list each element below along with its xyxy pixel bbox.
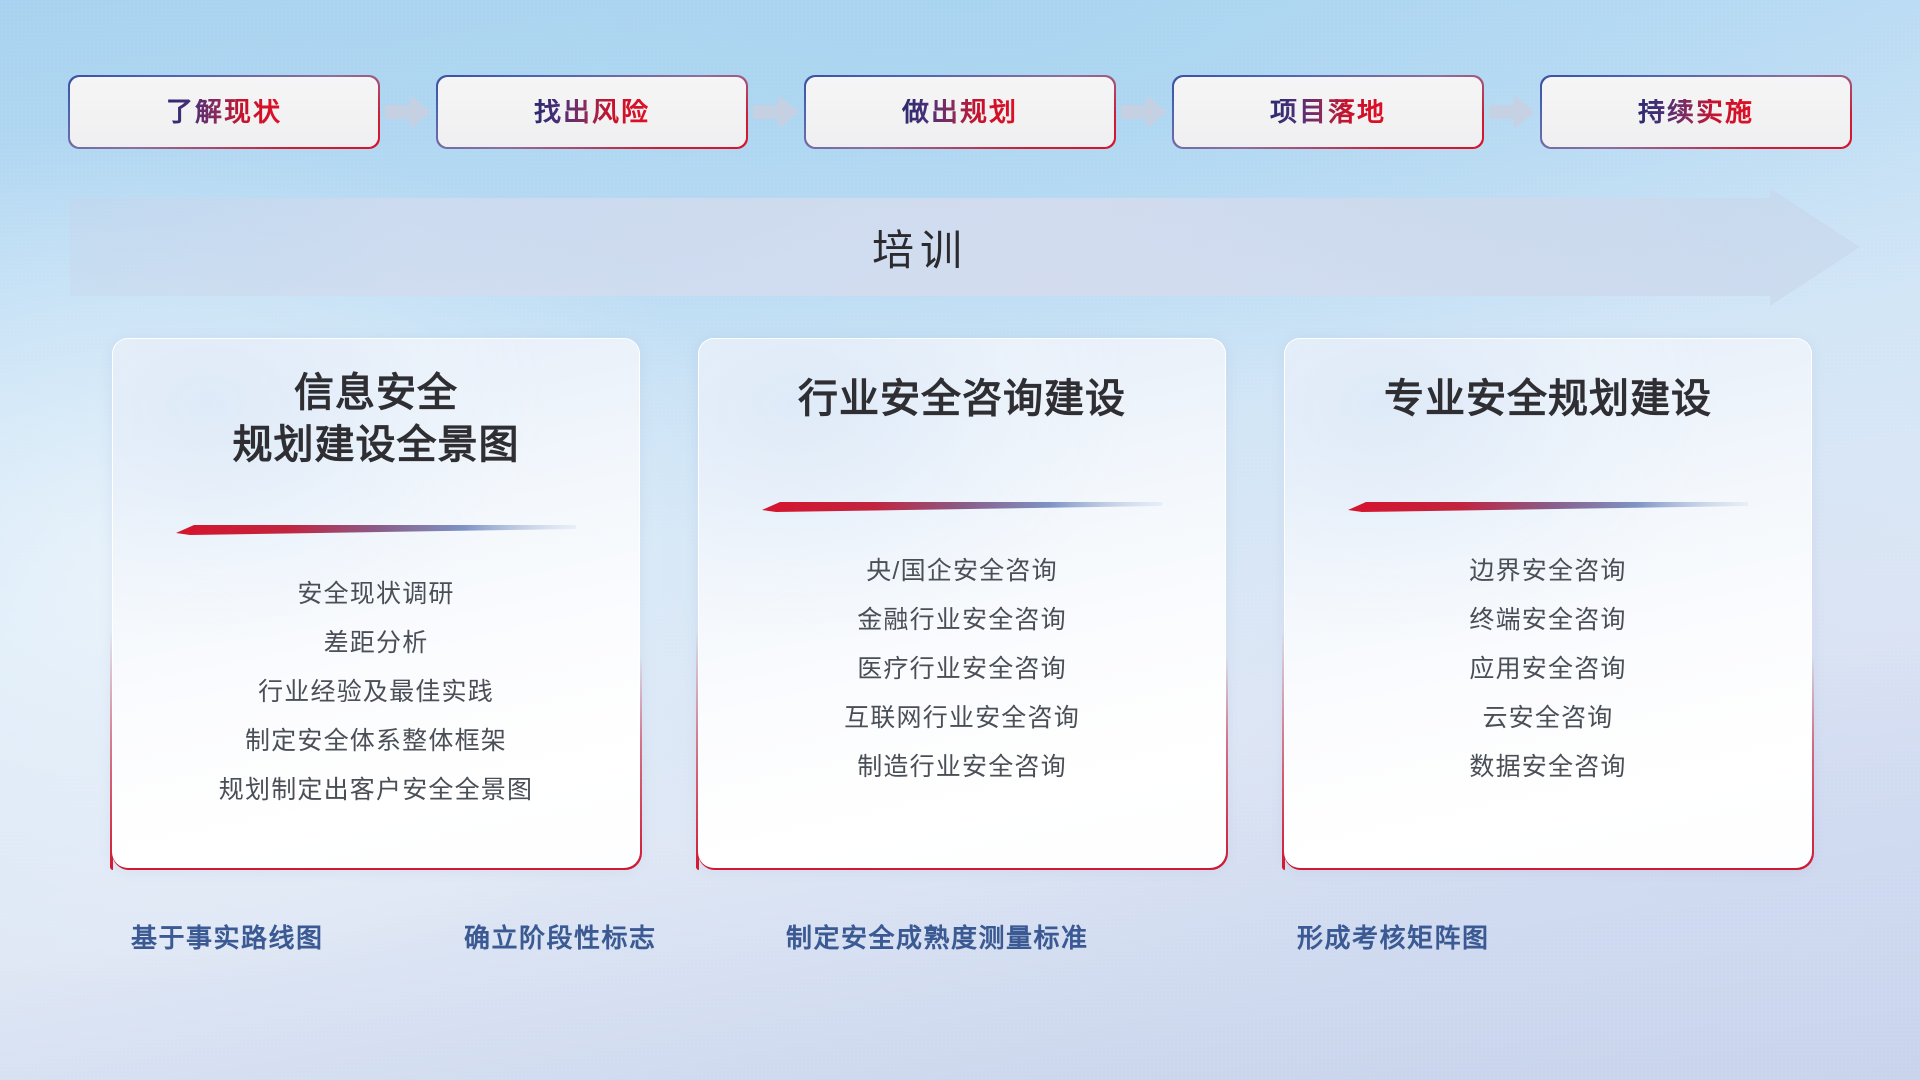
banner-label: 培训 [70, 188, 1770, 306]
step-box-5[interactable]: 持续实施 [1542, 77, 1850, 147]
card-item-list: 央/国企安全咨询 金融行业安全咨询 医疗行业安全咨询 互联网行业安全咨询 制造行… [699, 547, 1225, 792]
training-banner: 培训 [70, 188, 1860, 306]
accent-divider [762, 501, 1162, 513]
arrow-right-icon [1482, 95, 1542, 129]
list-item: 数据安全咨询 [1285, 743, 1811, 792]
process-step-row: 了解现状 找出风险 做出规划 [70, 76, 1850, 148]
list-item: 应用安全咨询 [1285, 645, 1811, 694]
step-box-1[interactable]: 了解现状 [70, 77, 378, 147]
card-item-list: 边界安全咨询 终端安全咨询 应用安全咨询 云安全咨询 数据安全咨询 [1285, 547, 1811, 792]
divider-wrap [699, 501, 1225, 513]
list-item: 互联网行业安全咨询 [699, 694, 1225, 743]
step-box-inner: 了解现状 [70, 77, 378, 147]
caption-maturity-metric: 制定安全成熟度测量标准 [786, 916, 1089, 960]
card-professional-security-planning[interactable]: 专业安全规划建设 [1284, 338, 1812, 868]
caption-roadmap: 基于事实路线图 [131, 916, 324, 960]
card-body: 信息安全 规划建设全景图 [112, 338, 640, 868]
list-item: 终端安全咨询 [1285, 596, 1811, 645]
divider-wrap [113, 524, 639, 536]
list-item: 安全现状调研 [113, 570, 639, 619]
step-label: 项目落地 [1270, 99, 1386, 126]
step-label: 了解现状 [166, 99, 282, 126]
card-industry-security-consulting[interactable]: 行业安全咨询建设 [698, 338, 1226, 868]
card-info-security-blueprint[interactable]: 信息安全 规划建设全景图 [112, 338, 640, 868]
step-box-3[interactable]: 做出规划 [806, 77, 1114, 147]
step-box-4[interactable]: 项目落地 [1174, 77, 1482, 147]
card-title-line: 专业安全规划建设 [1384, 373, 1712, 425]
list-item: 云安全咨询 [1285, 694, 1811, 743]
step-label: 持续实施 [1638, 99, 1754, 126]
accent-divider [1348, 501, 1748, 513]
accent-divider [176, 524, 576, 536]
step-box-inner: 持续实施 [1542, 77, 1850, 147]
list-item: 差距分析 [113, 619, 639, 668]
step-box-inner: 做出规划 [806, 77, 1114, 147]
card-body: 专业安全规划建设 [1284, 338, 1812, 868]
caption-assessment-matrix: 形成考核矩阵图 [1297, 916, 1490, 960]
step-box-2[interactable]: 找出风险 [438, 77, 746, 147]
step-label: 找出风险 [534, 99, 650, 126]
card-title: 专业安全规划建设 [1384, 373, 1712, 425]
arrow-right-icon [378, 95, 438, 129]
list-item: 金融行业安全咨询 [699, 596, 1225, 645]
arrow-right-icon [1114, 95, 1174, 129]
slide-canvas: 了解现状 找出风险 做出规划 [0, 0, 1920, 1080]
caption-row: 基于事实路线图 确立阶段性标志 制定安全成熟度测量标准 形成考核矩阵图 [0, 916, 1920, 960]
card-title: 行业安全咨询建设 [798, 373, 1126, 425]
card-title-line: 行业安全咨询建设 [798, 373, 1126, 425]
step-label: 做出规划 [902, 99, 1018, 126]
list-item: 规划制定出客户安全全景图 [113, 766, 639, 815]
list-item: 制造行业安全咨询 [699, 743, 1225, 792]
list-item: 制定安全体系整体框架 [113, 717, 639, 766]
list-item: 央/国企安全咨询 [699, 547, 1225, 596]
step-box-inner: 找出风险 [438, 77, 746, 147]
list-item: 行业经验及最佳实践 [113, 668, 639, 717]
arrow-right-icon [746, 95, 806, 129]
caption-milestones: 确立阶段性标志 [464, 916, 657, 960]
list-item: 边界安全咨询 [1285, 547, 1811, 596]
card-title: 信息安全 规划建设全景图 [233, 367, 520, 471]
card-body: 行业安全咨询建设 [698, 338, 1226, 868]
list-item: 医疗行业安全咨询 [699, 645, 1225, 694]
card-title-line: 规划建设全景图 [233, 419, 520, 471]
card-title-line: 信息安全 [233, 367, 520, 419]
card-item-list: 安全现状调研 差距分析 行业经验及最佳实践 制定安全体系整体框架 规划制定出客户… [113, 570, 639, 815]
step-box-inner: 项目落地 [1174, 77, 1482, 147]
card-row: 信息安全 规划建设全景图 [112, 338, 1812, 868]
divider-wrap [1285, 501, 1811, 513]
